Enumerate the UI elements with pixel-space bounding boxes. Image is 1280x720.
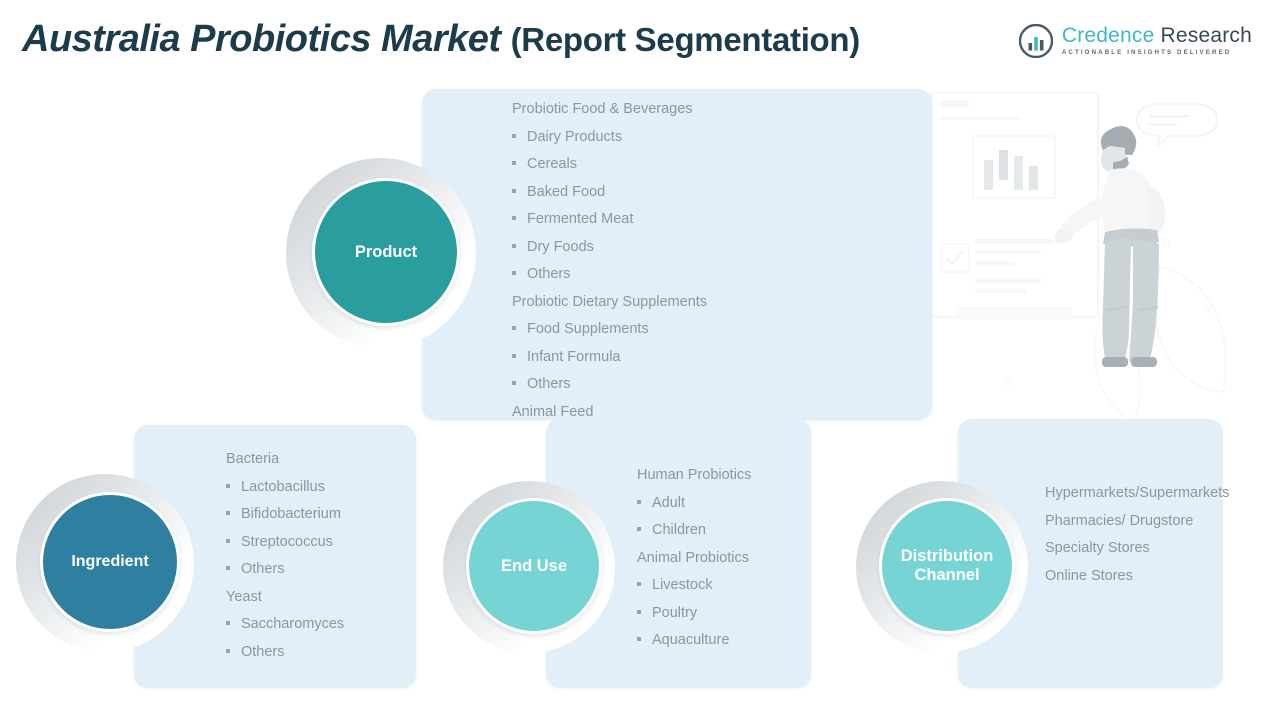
list-item: Cereals: [512, 157, 932, 172]
segment-label-line2: Channel: [914, 566, 979, 585]
list-item-label: Food Supplements: [527, 322, 649, 337]
bullet-icon: [512, 161, 516, 165]
segment-label: Ingredient: [71, 553, 148, 571]
segment-node-end-use[interactable]: End Use: [443, 481, 615, 653]
infographic-canvas: Australia Probiotics Market (Report Segm…: [0, 0, 1280, 720]
list-item: Others: [226, 645, 416, 660]
node-circle[interactable]: Ingredient: [40, 492, 180, 632]
list-item-label: Cereals: [527, 157, 577, 172]
logo-tagline: Actionable Insights Delivered: [1062, 50, 1252, 56]
segment-label: End Use: [501, 557, 567, 576]
list-item: Poultry: [637, 606, 817, 621]
list-item: Specialty Stores: [1045, 540, 1223, 558]
page-title: Australia Probiotics Market (Report Segm…: [22, 18, 860, 61]
list-item-label: Others: [241, 645, 285, 660]
list-item-label: Adult: [652, 496, 685, 511]
brand-logo: Credence Research Actionable Insights De…: [1019, 24, 1252, 58]
bullet-icon: [637, 500, 641, 504]
list-item: Others: [226, 562, 416, 577]
bullet-icon: [512, 326, 516, 330]
list-item: Livestock: [637, 578, 817, 593]
panel-end-use-list: Human Probiotics Adult Children Animal P…: [637, 468, 817, 648]
header: Australia Probiotics Market (Report Segm…: [0, 0, 1280, 80]
bullet-icon: [512, 244, 516, 248]
bullet-icon: [512, 216, 516, 220]
node-circle[interactable]: End Use: [466, 498, 602, 634]
list-item-label: Dairy Products: [527, 130, 622, 145]
logo-text: Credence Research Actionable Insights De…: [1062, 25, 1252, 56]
node-circle[interactable]: Distribution Channel: [879, 498, 1015, 634]
list-item: Saccharomyces: [226, 617, 416, 632]
bullet-icon: [512, 381, 516, 385]
bullet-icon: [226, 511, 230, 515]
bullet-icon: [637, 637, 641, 641]
list-item: Hypermarkets/Supermarkets: [1045, 485, 1223, 503]
list-item-label: Infant Formula: [527, 350, 621, 365]
bullet-icon: [512, 189, 516, 193]
segment-node-product[interactable]: Product: [286, 158, 476, 348]
list-item-label: Poultry: [652, 606, 697, 621]
bullet-icon: [512, 354, 516, 358]
list-item: Others: [512, 267, 932, 282]
bullet-icon: [512, 271, 516, 275]
list-item-label: Bifidobacterium: [241, 507, 341, 522]
list-item: Children: [637, 523, 817, 538]
list-item: Fermented Meat: [512, 212, 932, 227]
list-item: Others: [512, 377, 932, 392]
list-item: Pharmacies/ Drugstore: [1045, 513, 1223, 531]
list-item: Adult: [637, 496, 817, 511]
presenter-illustration-watermark: [905, 92, 1265, 437]
bullet-icon: [226, 539, 230, 543]
bullet-icon: [637, 582, 641, 586]
node-circle[interactable]: Product: [312, 178, 460, 326]
bar-chart-circle-icon: [1019, 24, 1053, 58]
list-item-label: Others: [241, 562, 285, 577]
segment-label: Product: [355, 243, 417, 262]
segment-node-ingredient[interactable]: Ingredient: [16, 474, 194, 652]
list-item: Dairy Products: [512, 130, 932, 145]
list-group: Animal Feed: [512, 405, 932, 420]
list-item-label: Livestock: [652, 578, 712, 593]
logo-name-research: Research: [1154, 24, 1252, 47]
panel-distribution-channel-list: Hypermarkets/Supermarkets Pharmacies/ Dr…: [1045, 485, 1223, 586]
segment-label-line1: Distribution: [901, 547, 994, 566]
page-title-subtitle: (Report Segmentation): [511, 21, 860, 58]
list-item: Streptococcus: [226, 535, 416, 550]
list-item-label: Children: [652, 523, 706, 538]
logo-name-credence: Credence: [1062, 24, 1155, 47]
list-item: Infant Formula: [512, 350, 932, 365]
list-item-label: Aquaculture: [652, 633, 729, 648]
bullet-icon: [226, 484, 230, 488]
bullet-icon: [226, 566, 230, 570]
list-item-label: Fermented Meat: [527, 212, 633, 227]
list-group: Animal Probiotics: [637, 551, 817, 566]
list-group: Bacteria: [226, 452, 416, 467]
panel-product-list: Probiotic Food & Beverages Dairy Product…: [512, 102, 932, 419]
bullet-icon: [637, 610, 641, 614]
list-item: Lactobacillus: [226, 480, 416, 495]
list-item-label: Others: [527, 267, 571, 282]
list-item: Bifidobacterium: [226, 507, 416, 522]
bullet-icon: [226, 649, 230, 653]
list-item-label: Baked Food: [527, 185, 605, 200]
list-item: Dry Foods: [512, 240, 932, 255]
list-item-label: Others: [527, 377, 571, 392]
list-item: Aquaculture: [637, 633, 817, 648]
segment-node-distribution-channel[interactable]: Distribution Channel: [856, 481, 1028, 653]
page-title-main: Australia Probiotics Market: [22, 18, 511, 60]
list-item-label: Streptococcus: [241, 535, 333, 550]
bullet-icon: [226, 621, 230, 625]
bullet-icon: [512, 134, 516, 138]
list-group: Yeast: [226, 590, 416, 605]
list-item-label: Dry Foods: [527, 240, 594, 255]
list-item-label: Lactobacillus: [241, 480, 325, 495]
panel-ingredient-list: Bacteria Lactobacillus Bifidobacterium S…: [226, 452, 416, 672]
list-item: Food Supplements: [512, 322, 932, 337]
bullet-icon: [637, 527, 641, 531]
list-group: Probiotic Dietary Supplements: [512, 295, 932, 310]
list-item-label: Saccharomyces: [241, 617, 344, 632]
list-item: Baked Food: [512, 185, 932, 200]
list-group: Human Probiotics: [637, 468, 817, 483]
list-item: Online Stores: [1045, 568, 1223, 586]
list-group: Probiotic Food & Beverages: [512, 102, 932, 117]
logo-name: Credence Research: [1062, 25, 1252, 46]
